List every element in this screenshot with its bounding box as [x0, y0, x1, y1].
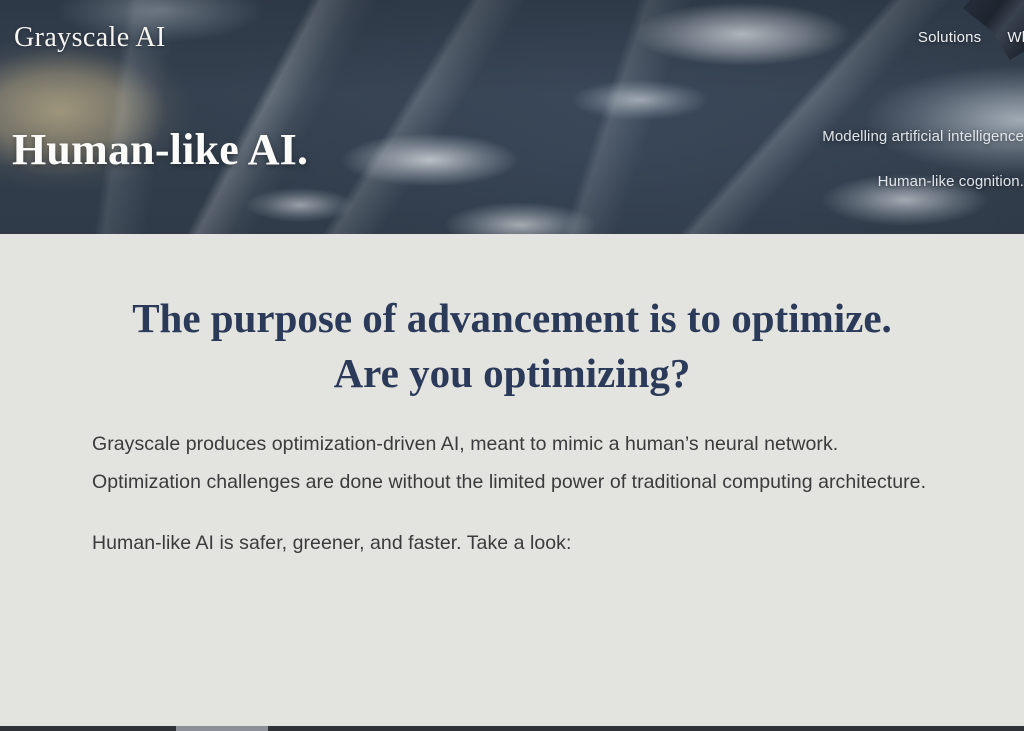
- hero-tagline-2: Human-like cognition.: [822, 173, 1024, 190]
- horizontal-scrollbar-thumb[interactable]: [176, 726, 268, 731]
- main-content: The purpose of advancement is to optimiz…: [0, 234, 1024, 563]
- section-heading-line-2: Are you optimizing?: [0, 346, 1024, 401]
- nav-item-why[interactable]: Why: [1007, 29, 1024, 46]
- intro-paragraph-2: Human-like AI is safer, greener, and fas…: [92, 524, 932, 563]
- intro-copy: Grayscale produces optimization-driven A…: [92, 401, 932, 563]
- hero-title: Human-like AI.: [12, 126, 308, 174]
- page-root: Grayscale AI Solutions Why Human-like AI…: [0, 0, 1024, 731]
- horizontal-scrollbar[interactable]: [0, 726, 1024, 731]
- section-heading-line-1: The purpose of advancement is to optimiz…: [132, 295, 892, 341]
- intro-paragraph-1: Grayscale produces optimization-driven A…: [92, 425, 932, 502]
- main-navigation: Solutions Why: [918, 29, 1024, 46]
- nav-item-solutions[interactable]: Solutions: [918, 29, 982, 46]
- hero-tagline-1: Modelling artificial intelligence: [822, 128, 1024, 145]
- hero-side-taglines: Modelling artificial intelligence Human-…: [822, 128, 1024, 190]
- section-heading: The purpose of advancement is to optimiz…: [0, 234, 1024, 401]
- site-logo[interactable]: Grayscale AI: [14, 22, 166, 54]
- hero-banner: Grayscale AI Solutions Why Human-like AI…: [0, 0, 1024, 234]
